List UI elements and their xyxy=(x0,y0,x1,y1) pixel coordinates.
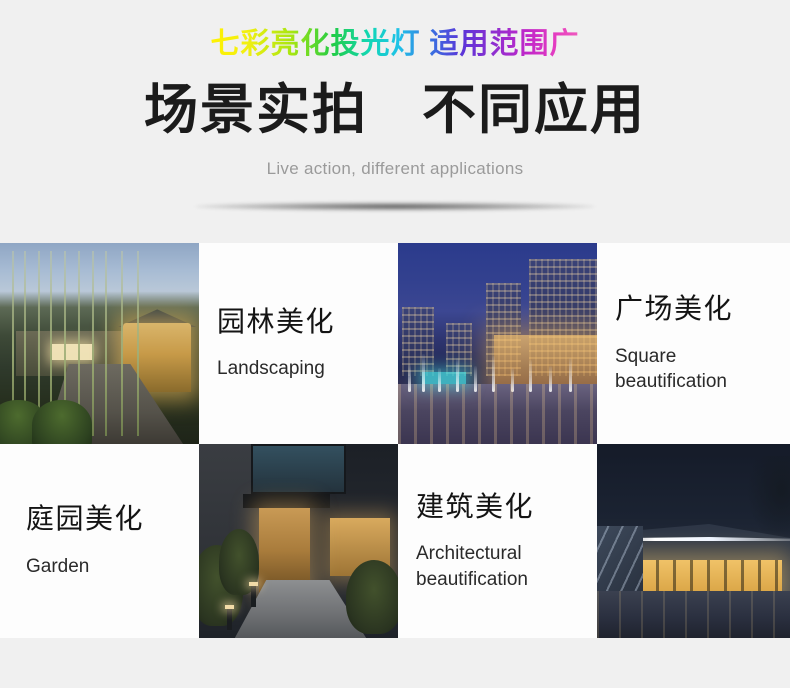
square-label: 广场美化 Square beautification xyxy=(597,243,790,444)
path-bollard-light xyxy=(251,582,256,607)
garden-label-en: Garden xyxy=(26,554,181,580)
bamboo-stalk xyxy=(105,251,107,436)
forecourt-pavement xyxy=(597,591,790,638)
path-bollard-light xyxy=(227,605,232,630)
scene-grid: 园林美化 Landscaping xyxy=(0,243,790,638)
entry-canopy xyxy=(243,494,331,508)
building-scene-art xyxy=(597,444,790,638)
subtitle: Live action, different applications xyxy=(0,159,790,179)
tree-branch-silhouette xyxy=(748,456,790,541)
shrub xyxy=(32,400,92,444)
landscaping-label-cn: 园林美化 xyxy=(217,305,380,339)
tagline: 七彩亮化投光灯 适用范围广 xyxy=(210,26,579,62)
shrub-tree xyxy=(346,560,398,634)
bamboo-stalk xyxy=(92,251,94,436)
architectural-label: 建筑美化 Architectural beautification xyxy=(398,444,597,638)
teal-sign-glow xyxy=(422,372,466,384)
promo-banner: 七彩亮化投光灯 适用范围广 场景实拍 不同应用 Live action, dif… xyxy=(0,0,790,688)
landscaping-label-en: Landscaping xyxy=(217,356,380,382)
bamboo-stalk xyxy=(137,251,139,436)
landscaping-label: 园林美化 Landscaping xyxy=(199,243,398,444)
garden-label-cn: 庭园美化 xyxy=(26,502,181,536)
garden-label: 庭园美化 Garden xyxy=(0,444,199,638)
shopfront-glow xyxy=(494,335,597,383)
plaza-scene-art xyxy=(398,243,597,444)
bamboo-stalk xyxy=(121,251,123,436)
upper-glass xyxy=(251,444,347,494)
divider-shadow xyxy=(195,202,595,211)
page-title-right: 不同应用 xyxy=(422,80,646,140)
glass-annex xyxy=(597,526,643,592)
banner-header: 七彩亮化投光灯 适用范围广 场景实拍 不同应用 Live action, dif… xyxy=(0,0,790,232)
house-scene-art xyxy=(199,444,398,638)
garden-scene-art xyxy=(0,243,199,444)
architectural-label-cn: 建筑美化 xyxy=(416,490,579,524)
landscaping-photo xyxy=(0,243,199,444)
square-photo xyxy=(398,243,597,444)
square-label-cn: 广场美化 xyxy=(615,292,772,326)
page-title-left: 场景实拍 xyxy=(144,80,368,140)
window-glow xyxy=(52,344,92,360)
garden-photo xyxy=(199,444,398,638)
square-label-en: Square beautification xyxy=(615,344,772,395)
tower xyxy=(402,307,434,375)
wet-ground-reflection xyxy=(398,384,597,444)
architectural-label-en: Architectural beautification xyxy=(416,541,579,592)
page-title: 场景实拍 不同应用 xyxy=(0,82,790,139)
architectural-photo xyxy=(597,444,790,638)
